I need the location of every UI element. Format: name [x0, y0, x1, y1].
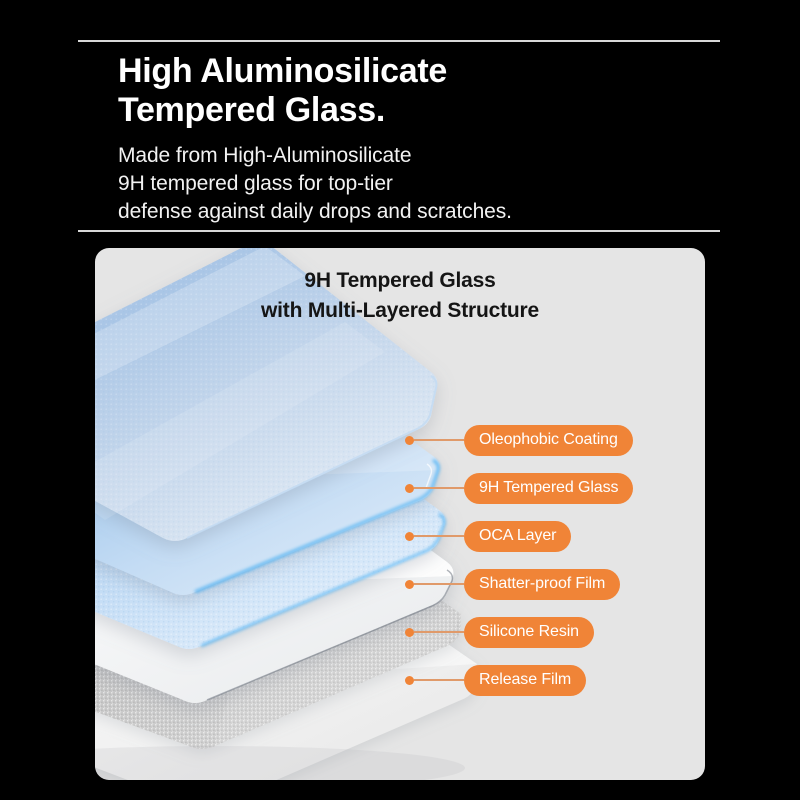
callout-silicone-resin[interactable]: Silicone Resin	[405, 617, 594, 647]
callout-label-oca-layer: OCA Layer	[464, 521, 571, 552]
structure-panel: 9H Tempered Glass with Multi-Layered Str…	[95, 248, 705, 780]
callout-release-film[interactable]: Release Film	[405, 665, 586, 695]
callout-dot-icon	[405, 532, 414, 541]
callout-dot-icon	[405, 628, 414, 637]
callout-oleophobic-coating[interactable]: Oleophobic Coating	[405, 425, 633, 455]
callout-lead-line	[414, 487, 464, 489]
callout-label-tempered-glass: 9H Tempered Glass	[464, 473, 633, 504]
callout-dot-icon	[405, 436, 414, 445]
callout-dot-icon	[405, 676, 414, 685]
callout-oca-layer[interactable]: OCA Layer	[405, 521, 571, 551]
callout-label-shatter-proof-film: Shatter-proof Film	[464, 569, 620, 600]
product-infographic: High Aluminosilicate Tempered Glass. Mad…	[0, 0, 800, 800]
layer-callouts: Oleophobic Coating 9H Tempered Glass OCA…	[95, 248, 705, 780]
callout-lead-line	[414, 679, 464, 681]
page-title-line-2: Tempered Glass.	[118, 91, 718, 130]
page-title: High Aluminosilicate Tempered Glass.	[118, 52, 718, 130]
page-subtitle-line-3: defense against daily drops and scratche…	[118, 198, 718, 226]
header: High Aluminosilicate Tempered Glass. Mad…	[118, 52, 718, 226]
callout-lead-line	[414, 439, 464, 441]
callout-label-release-film: Release Film	[464, 665, 586, 696]
callout-dot-icon	[405, 484, 414, 493]
callout-lead-line	[414, 631, 464, 633]
callout-lead-line	[414, 535, 464, 537]
callout-label-silicone-resin: Silicone Resin	[464, 617, 594, 648]
page-subtitle-line-1: Made from High-Aluminosilicate	[118, 142, 718, 170]
divider-bottom	[78, 230, 720, 232]
callout-dot-icon	[405, 580, 414, 589]
callout-tempered-glass[interactable]: 9H Tempered Glass	[405, 473, 633, 503]
page-subtitle: Made from High-Aluminosilicate 9H temper…	[118, 142, 718, 226]
callout-label-oleophobic-coating: Oleophobic Coating	[464, 425, 633, 456]
callout-lead-line	[414, 583, 464, 585]
page-title-line-1: High Aluminosilicate	[118, 52, 718, 91]
page-subtitle-line-2: 9H tempered glass for top-tier	[118, 170, 718, 198]
divider-top	[78, 40, 720, 42]
callout-shatter-proof-film[interactable]: Shatter-proof Film	[405, 569, 620, 599]
